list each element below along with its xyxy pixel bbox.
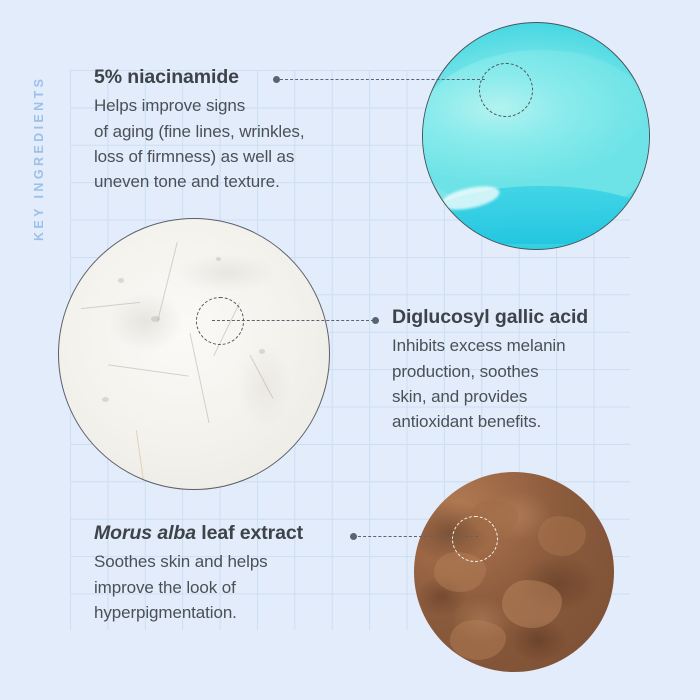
powder-crack — [190, 333, 210, 423]
powder-crack — [81, 302, 140, 309]
powder-crack — [136, 430, 146, 489]
ingredient-photo-niacinamide — [422, 22, 650, 250]
powder-speck — [216, 257, 221, 261]
ingredient-title-morus: Morus alba leaf extract — [94, 522, 364, 544]
powder-crack — [157, 242, 178, 321]
ingredient-block-morus: Morus alba leaf extract Soothes skin and… — [94, 522, 364, 625]
ingredient-description-gallic: Inhibits excess melanin production, soot… — [392, 333, 642, 434]
ingredient-title-species-name: Morus alba — [94, 522, 196, 544]
section-label-key-ingredients: KEY INGREDIENTS — [24, 68, 46, 248]
ingredient-photo-diglucosyl-gallic-acid — [58, 218, 330, 490]
powder-speck — [102, 397, 109, 402]
ingredient-title-text: Diglucosyl gallic acid — [392, 306, 588, 328]
powder-crack — [108, 365, 188, 378]
powder-crack — [250, 354, 274, 397]
leader-line-morus — [358, 536, 478, 537]
ingredient-block-niacinamide: 5% niacinamide Helps improve signs of ag… — [94, 66, 384, 194]
ingredient-title-gallic: Diglucosyl gallic acid — [392, 306, 642, 328]
ingredient-description-morus: Soothes skin and helps improve the look … — [94, 549, 364, 624]
powder-speck — [259, 349, 265, 354]
zoom-ring-niacinamide-icon — [479, 63, 533, 117]
ingredient-block-gallic: Diglucosyl gallic acid Inhibits excess m… — [392, 306, 642, 434]
powder-speck — [151, 316, 160, 322]
leader-line-gallic — [212, 320, 374, 321]
leader-dot-gallic — [372, 317, 379, 324]
ingredient-description-niacinamide: Helps improve signs of aging (fine lines… — [94, 93, 384, 194]
powder-speck — [118, 278, 124, 283]
ingredient-photo-morus-alba — [414, 472, 614, 672]
ingredient-title-text: leaf extract — [196, 522, 303, 544]
ingredient-title-text: 5% niacinamide — [94, 66, 239, 88]
ingredient-title-niacinamide: 5% niacinamide — [94, 66, 384, 88]
zoom-ring-gallic-icon — [196, 297, 244, 345]
zoom-ring-morus-icon — [452, 516, 498, 562]
